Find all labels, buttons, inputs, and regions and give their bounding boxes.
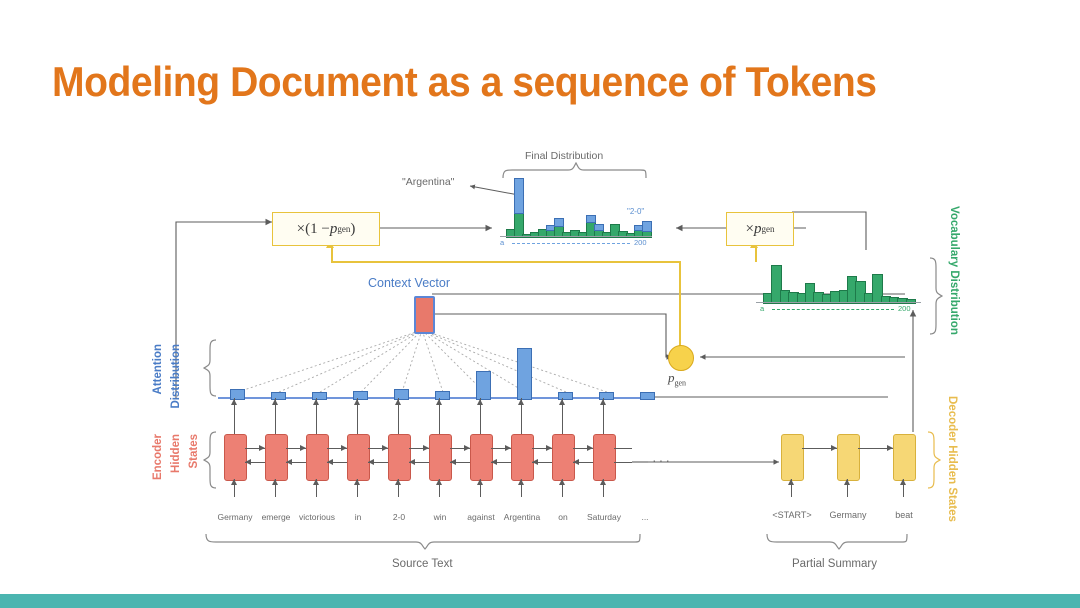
vocab-axis-left-tick: a	[760, 304, 764, 313]
encoder-tail-forward	[614, 448, 632, 449]
final-distribution-bar-blue	[586, 215, 596, 223]
formula-left-sub: gen	[337, 224, 350, 234]
final-distribution-bar-blue	[554, 218, 564, 227]
final-distribution-bar-blue	[514, 178, 524, 215]
decoder-token-label: beat	[871, 510, 937, 520]
encoder-to-attention-arrowhead	[436, 399, 442, 405]
decoder-hidden-states-label: Decoder Hidden States	[946, 396, 958, 522]
vocab-axis-right-tick: 200	[898, 304, 911, 313]
encoder-to-attention-arrowhead	[395, 399, 401, 405]
formula-right-prefix: ×	[746, 221, 754, 238]
formula-right-sub: gen	[761, 224, 774, 234]
encoder-to-attention-arrowhead	[231, 399, 237, 405]
token-to-encoder-arrowhead	[272, 479, 278, 485]
encoder-forward-arrowhead	[587, 445, 593, 451]
final-distribution-label: Final Distribution	[525, 150, 603, 162]
attention-distribution-label-line1: Attention	[152, 344, 164, 394]
token-to-encoder-arrowhead	[600, 479, 606, 485]
source-token-label: in	[335, 512, 381, 522]
page-title: Modeling Document as a sequence of Token…	[52, 58, 877, 106]
source-text-label: Source Text	[392, 558, 453, 570]
formula-box-one-minus-pgen[interactable]: ×(1 − pgen)	[272, 212, 380, 246]
source-token-label: ...	[622, 512, 668, 522]
attention-bar	[640, 392, 655, 400]
encoder-to-attention-arrowhead	[518, 399, 524, 405]
vocabulary-distribution-vertical-label: Vocabulary Distribution	[948, 206, 960, 335]
token-to-encoder-arrowhead	[477, 479, 483, 485]
token-to-encoder-arrowhead	[313, 479, 319, 485]
pgen-yellow-vertical-line	[679, 262, 681, 357]
formula-left-var: p	[330, 221, 338, 238]
source-token-label: Germany	[212, 512, 258, 522]
pgen-node-label: pgen	[668, 370, 686, 388]
formula-box-pgen[interactable]: ×pgen	[726, 212, 794, 246]
pgen-yellow-horizontal-line	[331, 261, 681, 263]
two-nil-callout-label: "2-0"	[627, 207, 644, 216]
source-token-label: 2-0	[376, 512, 422, 522]
source-token-label: win	[417, 512, 463, 522]
attention-distribution-label-line2: Distribution	[170, 344, 182, 409]
final-axis-dashes	[512, 243, 630, 244]
formula-left-suffix: )	[350, 221, 355, 238]
encoder-backward-arrowhead	[327, 459, 333, 465]
decoder-cell[interactable]	[837, 434, 860, 481]
encoder-backward-arrowhead	[409, 459, 415, 465]
context-vector[interactable]	[414, 296, 435, 334]
encoder-cell[interactable]	[265, 434, 288, 481]
final-axis-left-tick: a	[500, 238, 504, 247]
source-token-label: Saturday	[581, 512, 627, 522]
vocab-axis-dashes	[772, 309, 894, 310]
encoder-forward-arrowhead	[423, 445, 429, 451]
vocabulary-distribution-baseline	[756, 302, 921, 303]
final-axis-right-tick: 200	[634, 238, 647, 247]
encoder-to-attention-arrowhead	[477, 399, 483, 405]
encoder-forward-arrowhead	[300, 445, 306, 451]
encoder-backward-arrowhead	[491, 459, 497, 465]
token-to-decoder-arrowhead	[788, 479, 794, 485]
encoder-cell[interactable]	[552, 434, 575, 481]
encoder-backward-arrowhead	[368, 459, 374, 465]
encoder-backward-arrowhead	[286, 459, 292, 465]
encoder-cell[interactable]	[306, 434, 329, 481]
argentina-callout-label: "Argentina"	[402, 176, 454, 188]
encoder-hidden-label-line1: Encoder	[152, 434, 164, 480]
encoder-cell[interactable]	[593, 434, 616, 481]
formula-left-prefix: ×(1 −	[297, 221, 330, 238]
encoder-tail-backward	[614, 462, 632, 463]
token-to-encoder-arrowhead	[559, 479, 565, 485]
pgen-node[interactable]	[668, 345, 694, 371]
source-token-label: victorious	[294, 512, 340, 522]
encoder-forward-arrowhead	[382, 445, 388, 451]
token-to-encoder-arrowhead	[354, 479, 360, 485]
pgen-yellow-right-stub	[755, 248, 757, 262]
token-to-encoder-arrowhead	[436, 479, 442, 485]
encoder-backward-arrowhead	[532, 459, 538, 465]
pgen-yellow-left-stub	[331, 248, 333, 262]
token-to-encoder-arrowhead	[231, 479, 237, 485]
source-token-label: Argentina	[499, 512, 545, 522]
final-distribution-bar-blue	[642, 221, 652, 233]
slide-canvas: Modeling Document as a sequence of Token…	[0, 0, 1080, 608]
source-token-label: on	[540, 512, 586, 522]
encoder-to-attention-arrowhead	[313, 399, 319, 405]
encoder-cell[interactable]	[429, 434, 452, 481]
encoder-hidden-label-line3: States	[188, 434, 200, 469]
encoder-forward-arrowhead	[546, 445, 552, 451]
bottom-accent-bar	[0, 594, 1080, 608]
formula-right-var: p	[754, 221, 762, 238]
pgen-subscript: gen	[675, 379, 687, 388]
encoder-backward-arrowhead	[450, 459, 456, 465]
encoder-forward-arrowhead	[505, 445, 511, 451]
encoder-decoder-ellipsis: ···	[652, 452, 672, 468]
final-distribution-bar-blue	[594, 224, 604, 231]
encoder-to-attention-arrowhead	[600, 399, 606, 405]
token-to-decoder-arrowhead	[844, 479, 850, 485]
final-distribution-baseline	[500, 236, 652, 237]
encoder-cell[interactable]	[388, 434, 411, 481]
decoder-cell[interactable]	[781, 434, 804, 481]
encoder-forward-arrowhead	[464, 445, 470, 451]
encoder-forward-arrowhead	[341, 445, 347, 451]
encoder-cell[interactable]	[347, 434, 370, 481]
attention-bar	[476, 371, 491, 401]
encoder-to-attention-arrowhead	[354, 399, 360, 405]
encoder-backward-arrowhead	[245, 459, 251, 465]
encoder-forward-arrowhead	[259, 445, 265, 451]
encoder-to-attention-arrowhead	[272, 399, 278, 405]
token-to-encoder-arrowhead	[395, 479, 401, 485]
context-vector-label: Context Vector	[368, 276, 450, 290]
encoder-cell[interactable]	[511, 434, 534, 481]
encoder-cell[interactable]	[470, 434, 493, 481]
token-to-encoder-arrowhead	[518, 479, 524, 485]
token-to-decoder-arrowhead	[900, 479, 906, 485]
encoder-to-attention-arrowhead	[559, 399, 565, 405]
attention-bar	[517, 348, 532, 400]
encoder-cell[interactable]	[224, 434, 247, 481]
partial-summary-label: Partial Summary	[792, 558, 877, 570]
source-token-label: against	[458, 512, 504, 522]
encoder-hidden-label-line2: Hidden	[170, 434, 182, 473]
source-token-label: emerge	[253, 512, 299, 522]
decoder-cell[interactable]	[893, 434, 916, 481]
encoder-backward-arrowhead	[573, 459, 579, 465]
